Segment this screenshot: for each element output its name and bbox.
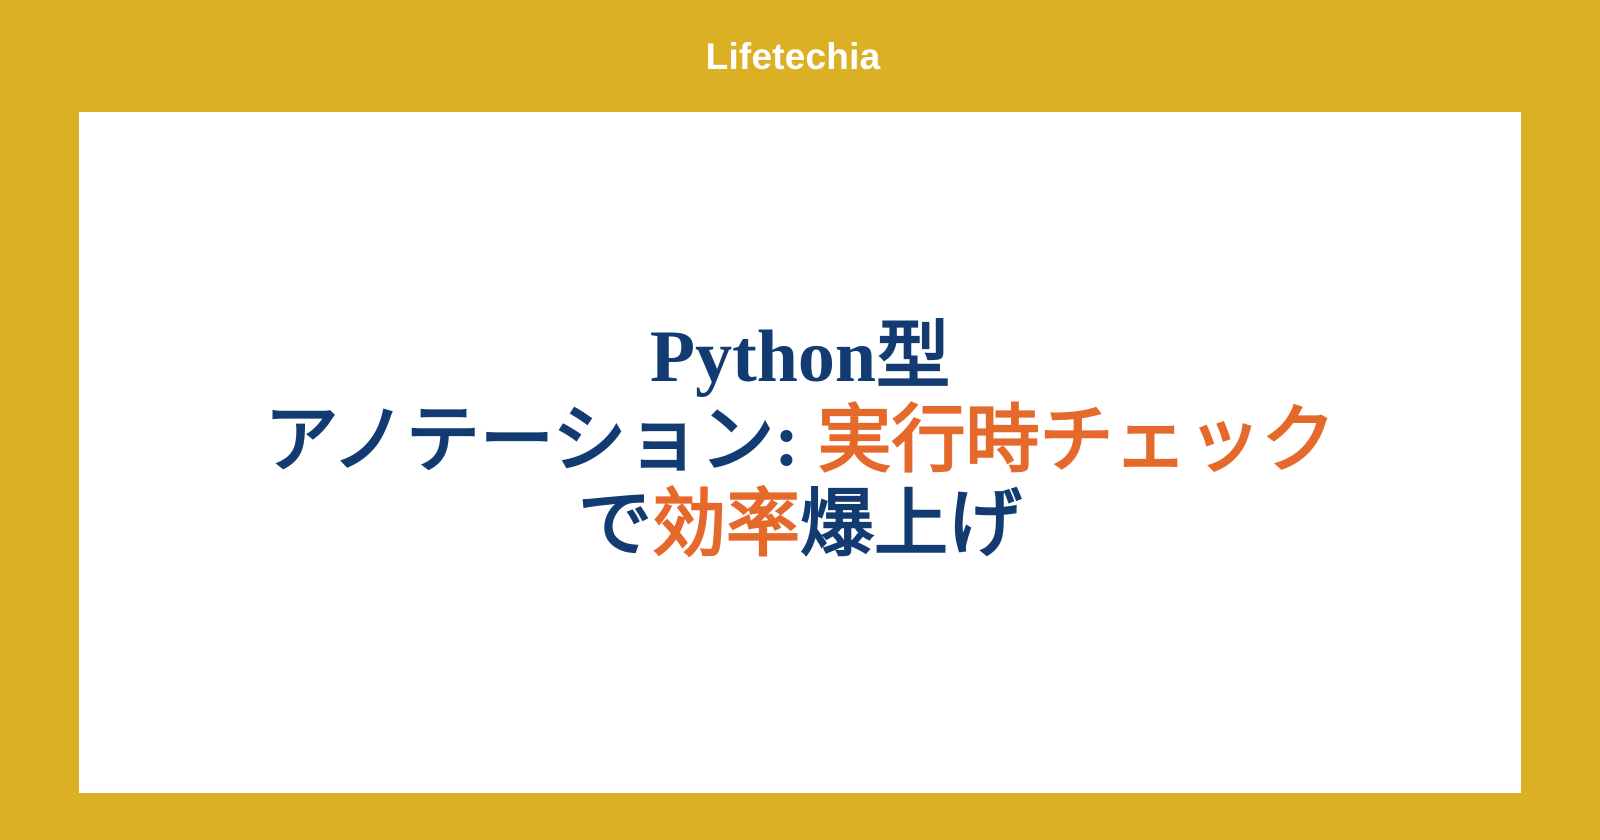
title-line-3: で効率爆上げ — [79, 483, 1521, 567]
title-segment-runtime-check: 実行時チェック — [818, 400, 1336, 482]
title-line-2: アノテーション: 実行時チェック — [79, 399, 1521, 483]
title-card: Python型 アノテーション: 実行時チェック で効率爆上げ — [79, 112, 1521, 793]
title-segment-de: で — [578, 484, 652, 566]
brand-header: Lifetechia — [0, 0, 1600, 112]
title-block: Python型 アノテーション: 実行時チェック で効率爆上げ — [79, 315, 1521, 567]
title-line-1: Python型 — [79, 315, 1521, 399]
slide-canvas: Lifetechia Python型 アノテーション: 実行時チェック で効率爆… — [0, 0, 1600, 840]
title-segment-annotation: アノテーション: — [264, 400, 817, 482]
title-segment-python-kata: Python型 — [650, 316, 950, 398]
title-segment-efficiency: 効率 — [652, 484, 800, 566]
brand-name: Lifetechia — [706, 38, 881, 75]
title-segment-boost: 爆上げ — [800, 484, 1022, 566]
